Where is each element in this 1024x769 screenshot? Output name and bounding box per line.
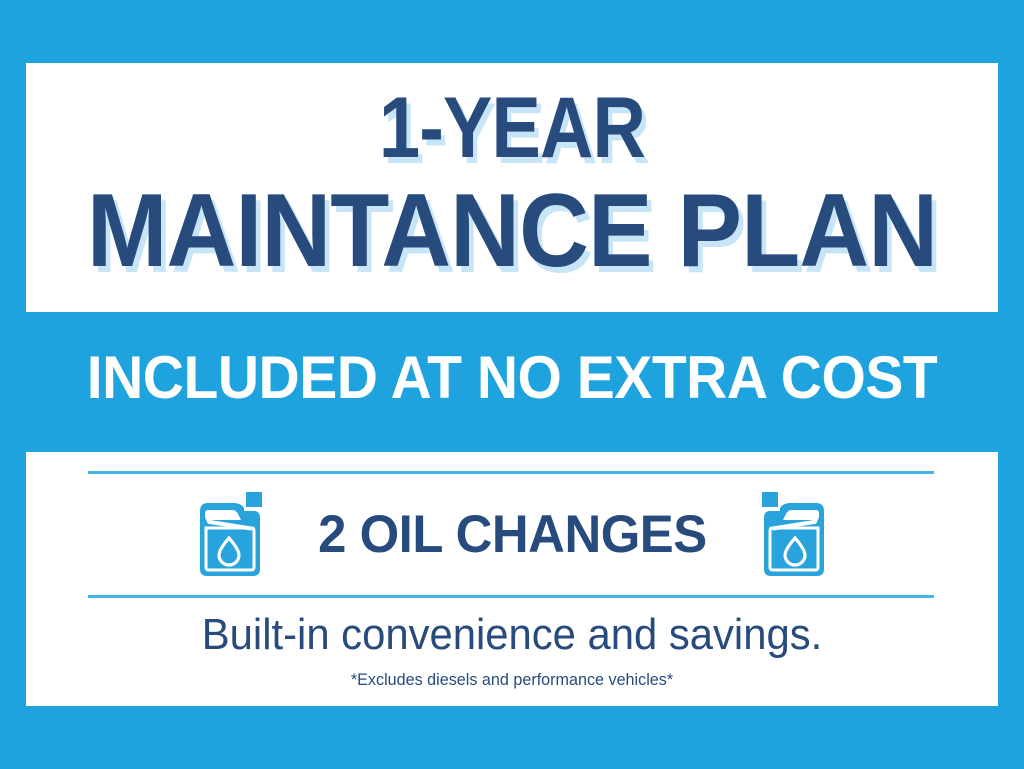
divider-bottom (88, 595, 934, 598)
oil-changes-row: 2 OIL CHANGES (26, 480, 998, 588)
headline-line-2: MAINTANCE PLAN (60, 179, 964, 283)
headline-panel: 1-YEAR MAINTANCE PLAN (26, 63, 998, 312)
divider-top (88, 471, 934, 474)
maintenance-plan-poster: 1-YEAR MAINTANCE PLAN INCLUDED AT NO EXT… (0, 0, 1024, 769)
tagline: Built-in convenience and savings. (50, 613, 973, 657)
oil-jug-icon (194, 490, 264, 578)
headline-line-1: 1-YEAR (94, 85, 930, 171)
oil-changes-label: 2 OIL CHANGES (318, 508, 707, 561)
disclaimer: *Excludes diesels and performance vehicl… (50, 671, 973, 688)
details-panel: 2 OIL CHANGES Built-in convenience and s… (26, 452, 998, 706)
oil-jug-icon (760, 490, 830, 578)
subheadline: INCLUDED AT NO EXTRA COST (26, 348, 999, 408)
